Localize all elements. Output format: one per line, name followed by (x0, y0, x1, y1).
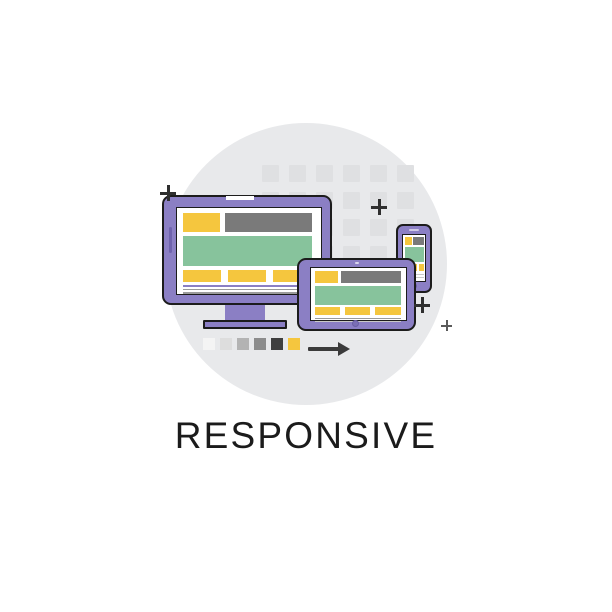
plus-mark-icon (160, 185, 176, 201)
tablet-card-3 (375, 307, 401, 315)
page-title: RESPONSIVE (0, 415, 612, 457)
arrow-shaft (308, 347, 340, 351)
grid-square (289, 165, 306, 182)
monitor-footer-rule-2 (183, 292, 312, 294)
grid-square (316, 165, 333, 182)
plus-mark-icon (441, 320, 452, 331)
device-tablet (297, 258, 416, 331)
grid-square (370, 165, 387, 182)
plus-mark-icon (371, 199, 387, 215)
phone-speaker (409, 229, 419, 231)
illustration-canvas: RESPONSIVE (0, 0, 612, 612)
tablet-card-2 (345, 307, 370, 315)
tablet-card-1 (315, 307, 340, 315)
monitor-stand-base (203, 320, 287, 329)
palette-swatch[interactable] (220, 338, 232, 350)
palette-swatch[interactable] (271, 338, 283, 350)
monitor-footer-rule-accent (183, 285, 312, 287)
monitor-header-bar (225, 213, 312, 232)
monitor-card-2 (228, 270, 266, 282)
monitor-card-1 (183, 270, 221, 282)
palette-swatch[interactable] (288, 338, 300, 350)
palette-swatch[interactable] (203, 338, 215, 350)
palette-swatch[interactable] (254, 338, 266, 350)
monitor-footer-rule-1 (183, 289, 312, 291)
grid-square (343, 219, 360, 236)
grid-square (343, 192, 360, 209)
plus-mark-icon (414, 297, 430, 313)
tablet-logo-block (315, 271, 338, 283)
arrow-head (338, 342, 350, 356)
tablet-home-button[interactable] (352, 320, 359, 327)
monitor-side-accent (169, 227, 172, 253)
grid-square (262, 165, 279, 182)
grid-square (397, 192, 414, 209)
palette-swatch[interactable] (237, 338, 249, 350)
tablet-footer-rule-1 (315, 318, 401, 319)
monitor-bezel-notch (226, 196, 254, 200)
phone-logo-block (405, 237, 412, 245)
tablet-camera (355, 262, 359, 264)
monitor-hero-area (183, 236, 312, 266)
tablet-hero-area (315, 286, 401, 305)
grid-square (343, 165, 360, 182)
grid-square (397, 165, 414, 182)
monitor-logo-block (183, 213, 220, 232)
grid-square (370, 219, 387, 236)
phone-header-bar (413, 237, 424, 245)
phone-card-3 (419, 264, 424, 271)
tablet-screen (310, 267, 407, 321)
tablet-header-bar (341, 271, 401, 283)
